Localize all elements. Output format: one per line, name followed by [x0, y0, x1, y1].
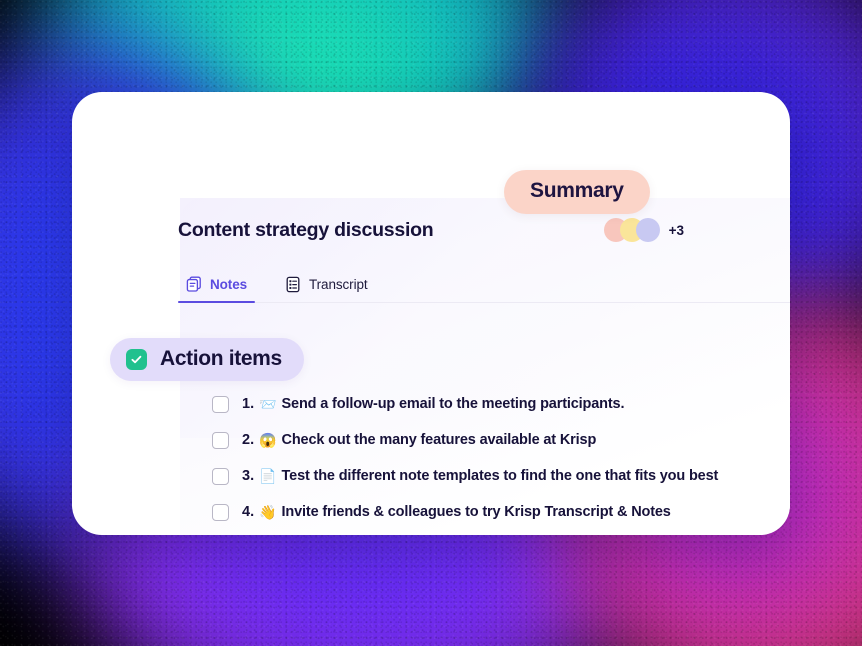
tab-notes[interactable]: Notes	[178, 270, 255, 302]
tab-notes-label: Notes	[210, 277, 247, 292]
item-text: Test the different note templates to fin…	[282, 468, 719, 484]
tab-bar: Notes Transcript	[178, 270, 790, 303]
item-number: 1.	[242, 396, 254, 412]
check-glyph	[130, 353, 143, 366]
action-items-badge[interactable]: Action items	[110, 338, 304, 381]
attendee-overflow-count[interactable]: +3	[669, 223, 684, 238]
avatar-stack	[604, 218, 660, 242]
list-item[interactable]: 3. 📄 Test the different note templates t…	[212, 458, 782, 494]
item-number: 2.	[242, 432, 254, 448]
action-items-list: 1. 📨 Send a follow-up email to the meeti…	[212, 386, 782, 530]
transcript-icon	[285, 276, 301, 293]
item-number: 3.	[242, 468, 254, 484]
action-items-label: Action items	[160, 347, 282, 371]
list-item[interactable]: 1. 📨 Send a follow-up email to the meeti…	[212, 386, 782, 422]
page-title: Content strategy discussion	[178, 219, 433, 242]
item-number: 4.	[242, 504, 254, 520]
list-item[interactable]: 4. 👋 Invite friends & colleagues to try …	[212, 494, 782, 530]
card-header: Content strategy discussion +3	[178, 218, 684, 242]
screenshot-stage: Summary Content strategy discussion +3	[0, 0, 862, 646]
meeting-notes-card: Summary Content strategy discussion +3	[72, 92, 790, 535]
waving-hand-icon: 👋	[259, 505, 276, 519]
item-checkbox[interactable]	[212, 396, 229, 413]
page-icon: 📄	[259, 469, 276, 483]
checkbox-checked-icon	[126, 349, 147, 370]
tab-transcript[interactable]: Transcript	[277, 270, 376, 302]
email-icon: 📨	[259, 397, 276, 411]
item-text: Check out the many features available at…	[282, 432, 597, 448]
list-item[interactable]: 2. 😱 Check out the many features availab…	[212, 422, 782, 458]
item-text: Invite friends & colleagues to try Krisp…	[282, 504, 671, 520]
item-checkbox[interactable]	[212, 504, 229, 521]
item-checkbox[interactable]	[212, 432, 229, 449]
summary-badge[interactable]: Summary	[504, 170, 650, 214]
tab-transcript-label: Transcript	[309, 277, 368, 292]
notes-icon	[186, 276, 202, 293]
screaming-face-icon: 😱	[259, 433, 276, 447]
item-text: Send a follow-up email to the meeting pa…	[282, 396, 625, 412]
item-checkbox[interactable]	[212, 468, 229, 485]
attendee-group[interactable]: +3	[604, 218, 684, 242]
avatar[interactable]	[636, 218, 660, 242]
